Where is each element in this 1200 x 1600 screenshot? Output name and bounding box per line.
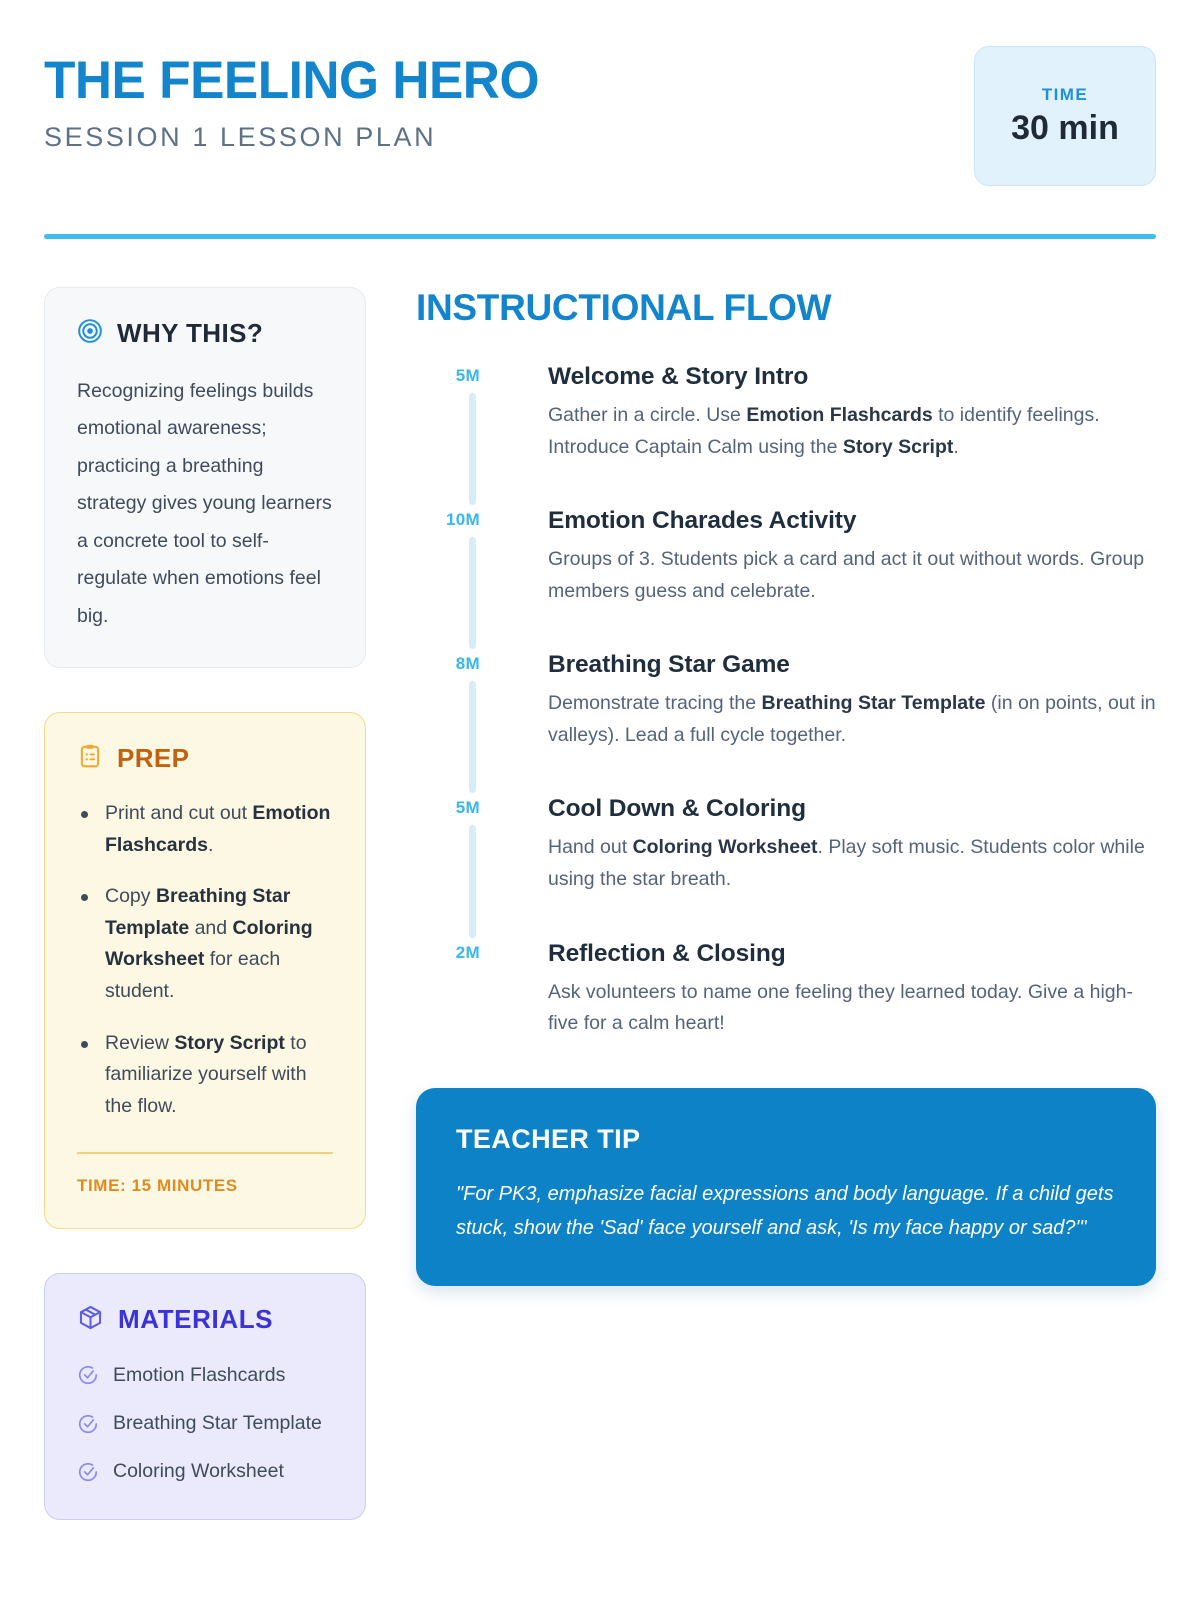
page-title: THE FEELING HERO xyxy=(44,54,539,107)
list-item: Emotion Flashcards xyxy=(77,1360,333,1391)
flow-step-title: Breathing Star Game xyxy=(548,651,1156,679)
flow-step-title: Cool Down & Coloring xyxy=(548,795,1156,823)
target-icon xyxy=(77,318,103,349)
prep-header: PREP xyxy=(77,743,333,774)
why-this-card: WHY THIS? Recognizing feelings builds em… xyxy=(44,287,366,668)
flow-step-body: Cool Down & ColoringHand out Coloring Wo… xyxy=(492,795,1156,895)
timeline-rail xyxy=(469,681,476,793)
lesson-plan-page: THE FEELING HERO SESSION 1 LESSON PLAN T… xyxy=(0,0,1200,1600)
flow-step-time-column: 5M xyxy=(416,363,492,463)
flow-step: 10MEmotion Charades ActivityGroups of 3.… xyxy=(416,507,1156,607)
flow-step-title: Emotion Charades Activity xyxy=(548,507,1156,535)
prep-list-item: Copy Breathing Star Template and Colorin… xyxy=(77,881,333,1007)
flow-step-description: Demonstrate tracing the Breathing Star T… xyxy=(548,688,1156,751)
flow-step-duration: 8M xyxy=(416,654,492,674)
sidebar: WHY THIS? Recognizing feelings builds em… xyxy=(44,287,366,1520)
prep-list: Print and cut out Emotion Flashcards. Co… xyxy=(77,798,333,1122)
why-this-text: Recognizing feelings builds emotional aw… xyxy=(77,373,333,635)
flow-step: 5MWelcome & Story IntroGather in a circl… xyxy=(416,363,1156,463)
materials-card: MATERIALS Emotion Flashcards xyxy=(44,1273,366,1521)
header-divider xyxy=(44,234,1156,239)
title-block: THE FEELING HERO SESSION 1 LESSON PLAN xyxy=(44,46,554,153)
flow-step-duration: 5M xyxy=(416,366,492,386)
prep-divider xyxy=(77,1152,333,1154)
instructional-flow-title: INSTRUCTIONAL FLOW xyxy=(416,287,1156,329)
flow-step-title: Welcome & Story Intro xyxy=(548,363,1156,391)
prep-title: PREP xyxy=(117,743,189,774)
flow-step-time-column: 8M xyxy=(416,651,492,751)
flow-step: 5MCool Down & ColoringHand out Coloring … xyxy=(416,795,1156,895)
material-label: Emotion Flashcards xyxy=(113,1360,285,1391)
list-item: Breathing Star Template xyxy=(77,1408,333,1439)
flow-step-description: Groups of 3. Students pick a card and ac… xyxy=(548,544,1156,607)
flow-step-duration: 5M xyxy=(416,798,492,818)
page-subtitle: SESSION 1 LESSON PLAN xyxy=(44,122,554,153)
teacher-tip-text: "For PK3, emphasize facial expressions a… xyxy=(456,1177,1116,1246)
flow-step: 2MReflection & ClosingAsk volunteers to … xyxy=(416,940,1156,1040)
flow-step-time-column: 10M xyxy=(416,507,492,607)
timeline-rail xyxy=(469,537,476,649)
timeline-rail xyxy=(469,825,476,937)
check-circle-icon xyxy=(77,1364,99,1386)
check-circle-icon xyxy=(77,1461,99,1483)
teacher-tip-box: TEACHER TIP "For PK3, emphasize facial e… xyxy=(416,1088,1156,1286)
flow-step-duration: 10M xyxy=(416,510,492,530)
prep-time-label: TIME: 15 MINUTES xyxy=(77,1176,333,1196)
flow-step-title: Reflection & Closing xyxy=(548,940,1156,968)
materials-list: Emotion Flashcards Breathing Star Templa… xyxy=(77,1360,333,1488)
materials-title: MATERIALS xyxy=(118,1304,273,1335)
flow-step-time-column: 5M xyxy=(416,795,492,895)
clipboard-icon xyxy=(77,743,103,774)
body-grid: WHY THIS? Recognizing feelings builds em… xyxy=(44,287,1156,1520)
flow-step-body: Welcome & Story IntroGather in a circle.… xyxy=(492,363,1156,463)
flow-step-body: Emotion Charades ActivityGroups of 3. St… xyxy=(492,507,1156,607)
prep-list-item: Review Story Script to familiarize yours… xyxy=(77,1028,333,1123)
why-this-title: WHY THIS? xyxy=(117,318,263,349)
main-content: INSTRUCTIONAL FLOW 5MWelcome & Story Int… xyxy=(416,287,1156,1520)
flow-step-body: Reflection & ClosingAsk volunteers to na… xyxy=(492,940,1156,1040)
flow-steps-list: 5MWelcome & Story IntroGather in a circl… xyxy=(416,363,1156,1040)
check-circle-icon xyxy=(77,1413,99,1435)
flow-step: 8MBreathing Star GameDemonstrate tracing… xyxy=(416,651,1156,751)
box-icon xyxy=(77,1304,104,1336)
prep-card: PREP Print and cut out Emotion Flashcard… xyxy=(44,712,366,1229)
flow-step-time-column: 2M xyxy=(416,940,492,1040)
flow-step-description: Gather in a circle. Use Emotion Flashcar… xyxy=(548,400,1156,463)
timeline-rail xyxy=(469,393,476,505)
list-item: Coloring Worksheet xyxy=(77,1456,333,1487)
why-this-header: WHY THIS? xyxy=(77,318,333,349)
flow-step-body: Breathing Star GameDemonstrate tracing t… xyxy=(492,651,1156,751)
material-label: Breathing Star Template xyxy=(113,1408,322,1439)
total-time-badge: TIME 30 min xyxy=(974,46,1156,186)
prep-list-item: Print and cut out Emotion Flashcards. xyxy=(77,798,333,861)
flow-step-duration: 2M xyxy=(416,943,492,963)
page-header: THE FEELING HERO SESSION 1 LESSON PLAN T… xyxy=(44,46,1156,186)
time-badge-label: TIME xyxy=(1042,85,1088,105)
material-label: Coloring Worksheet xyxy=(113,1456,284,1487)
flow-step-description: Hand out Coloring Worksheet. Play soft m… xyxy=(548,832,1156,895)
teacher-tip-title: TEACHER TIP xyxy=(456,1124,1116,1155)
flow-step-description: Ask volunteers to name one feeling they … xyxy=(548,977,1156,1040)
time-badge-value: 30 min xyxy=(1011,109,1119,148)
materials-header: MATERIALS xyxy=(77,1304,333,1336)
